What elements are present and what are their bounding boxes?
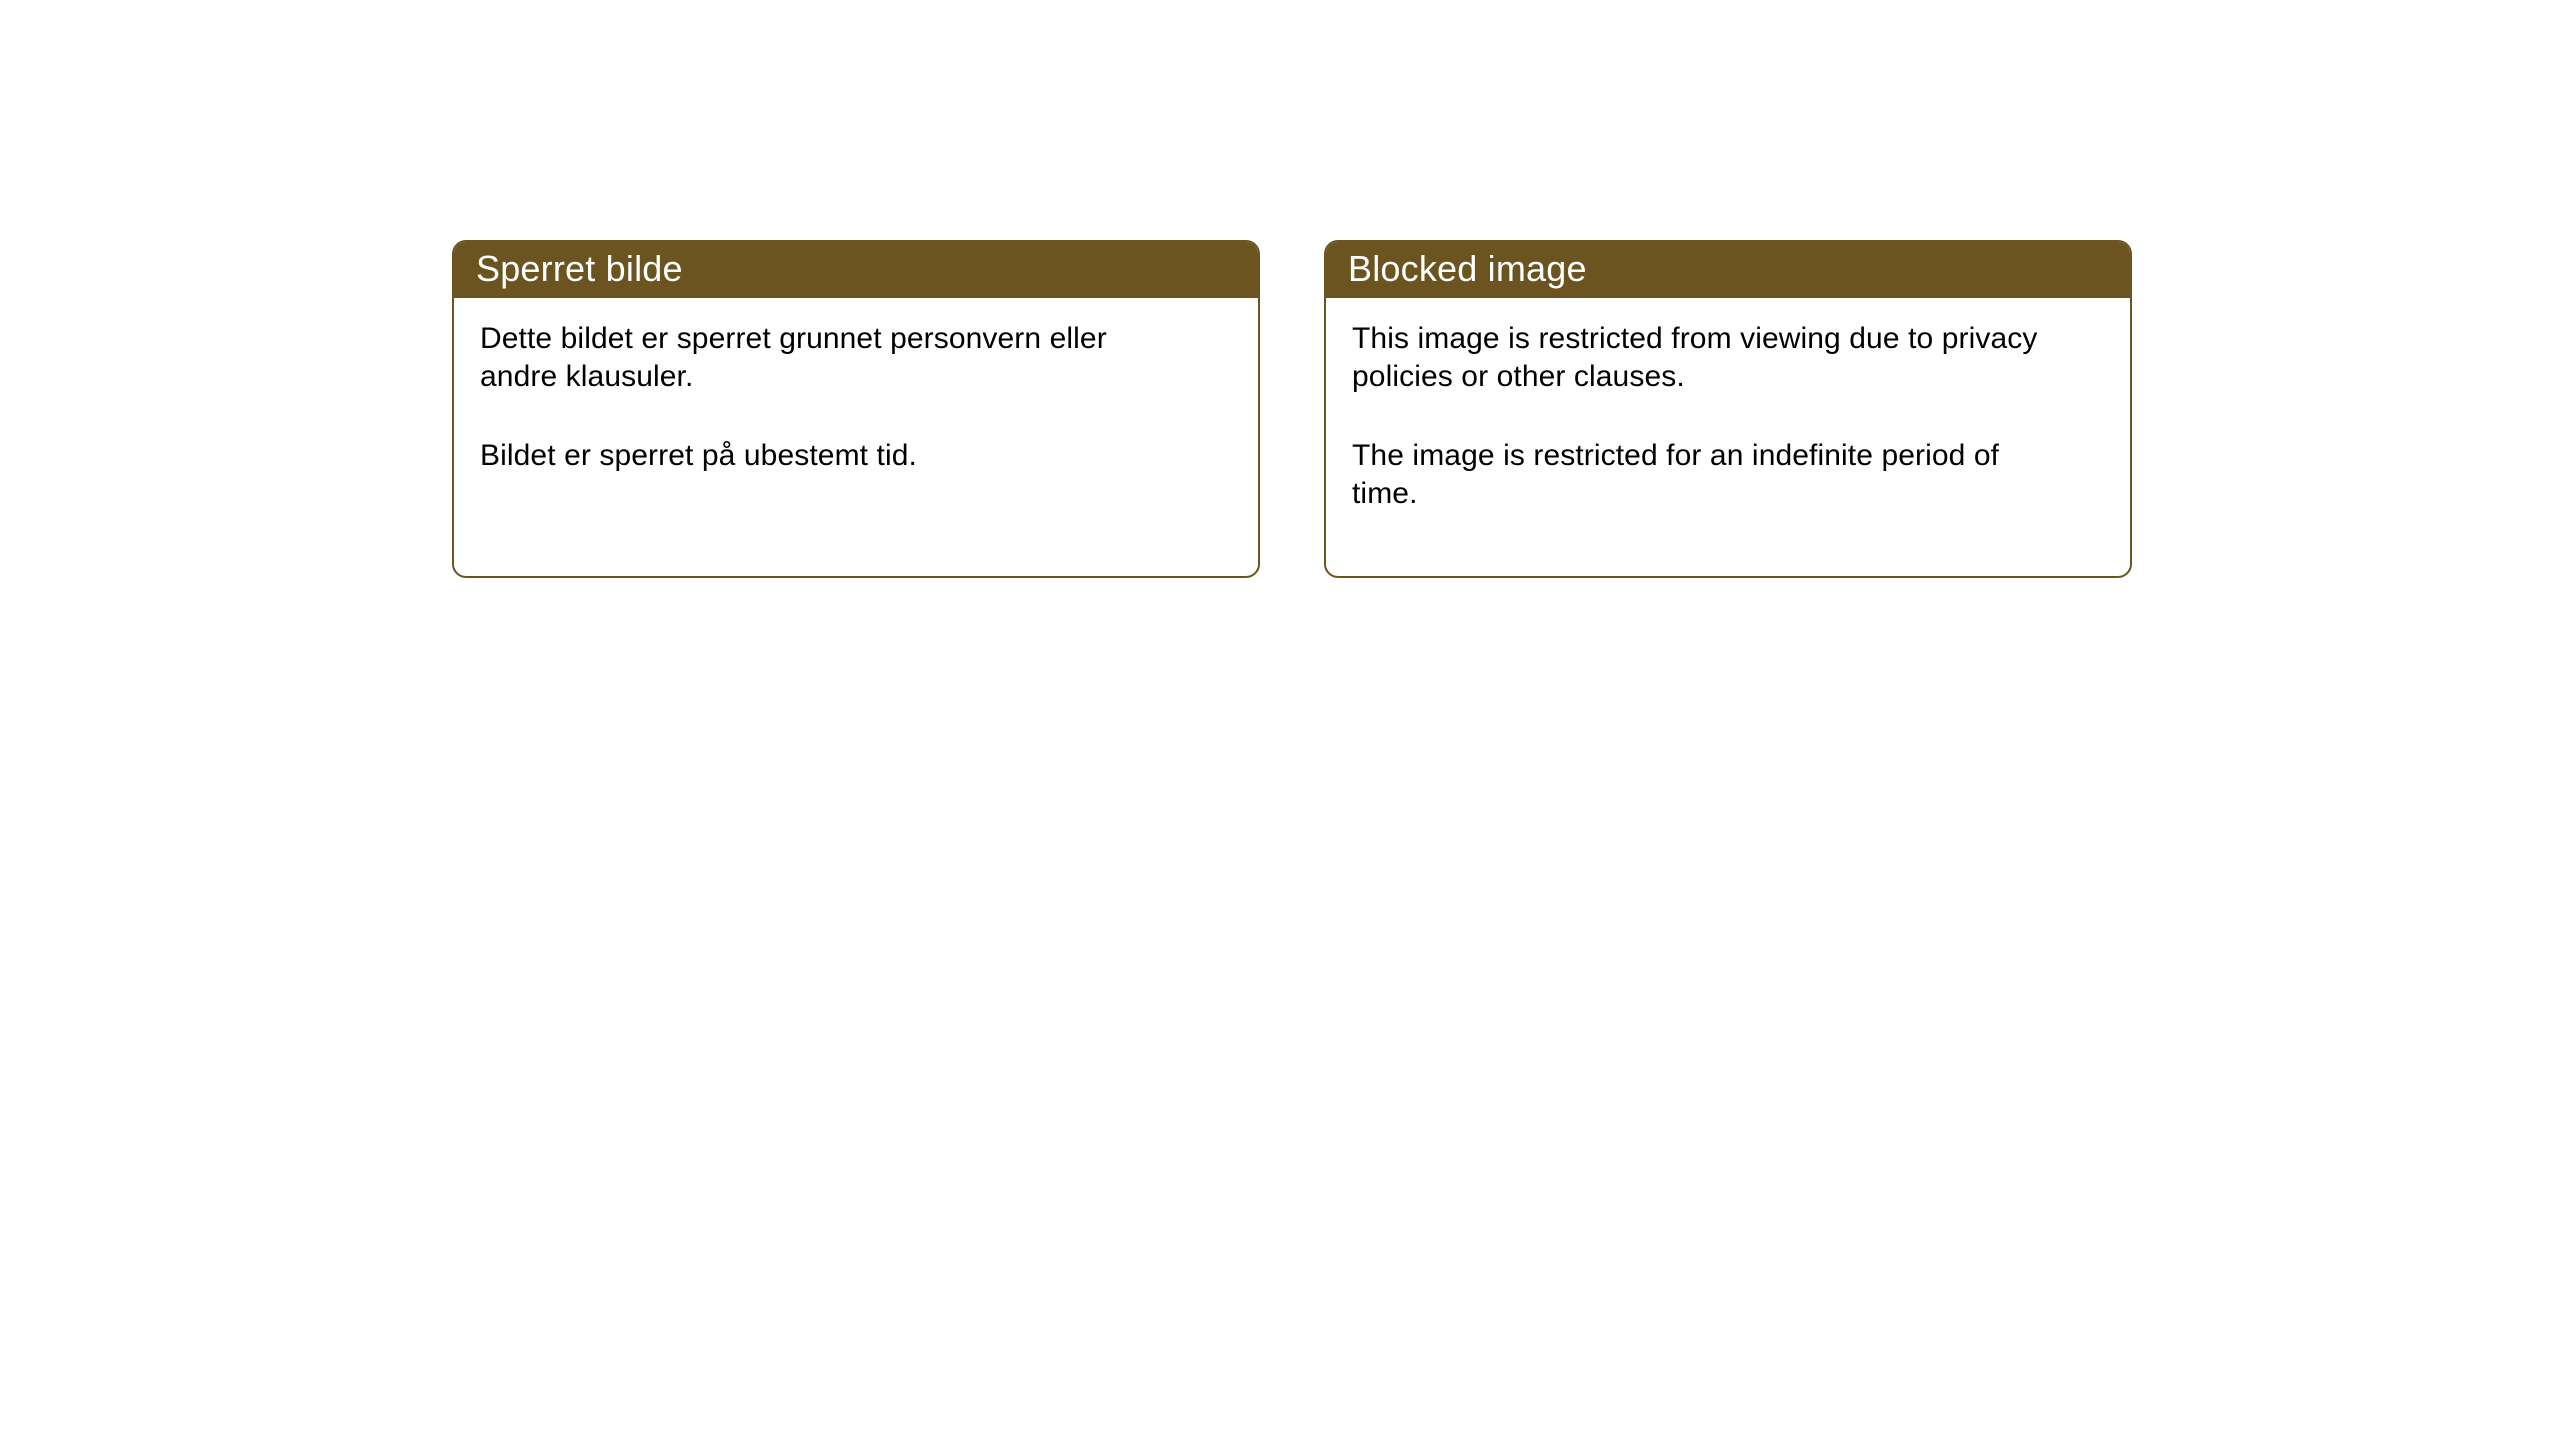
panel-title-english: Blocked image — [1348, 251, 1587, 287]
panel-body-english: This image is restricted from viewing du… — [1326, 298, 2130, 534]
panel-paragraph-duration-norwegian: Bildet er sperret på ubestemt tid. — [480, 437, 1180, 475]
panel-paragraph-reason-norwegian: Dette bildet er sperret grunnet personve… — [480, 320, 1180, 397]
panel-header-english: Blocked image — [1324, 240, 2132, 298]
blocked-image-panel-norwegian: Sperret bilde Dette bildet er sperret gr… — [452, 240, 1260, 578]
panel-paragraph-duration-english: The image is restricted for an indefinit… — [1352, 437, 2072, 514]
panel-paragraph-reason-english: This image is restricted from viewing du… — [1352, 320, 2072, 397]
panel-body-norwegian: Dette bildet er sperret grunnet personve… — [454, 298, 1258, 495]
panel-title-norwegian: Sperret bilde — [476, 251, 683, 287]
blocked-image-panel-english: Blocked image This image is restricted f… — [1324, 240, 2132, 578]
panel-header-norwegian: Sperret bilde — [452, 240, 1260, 298]
